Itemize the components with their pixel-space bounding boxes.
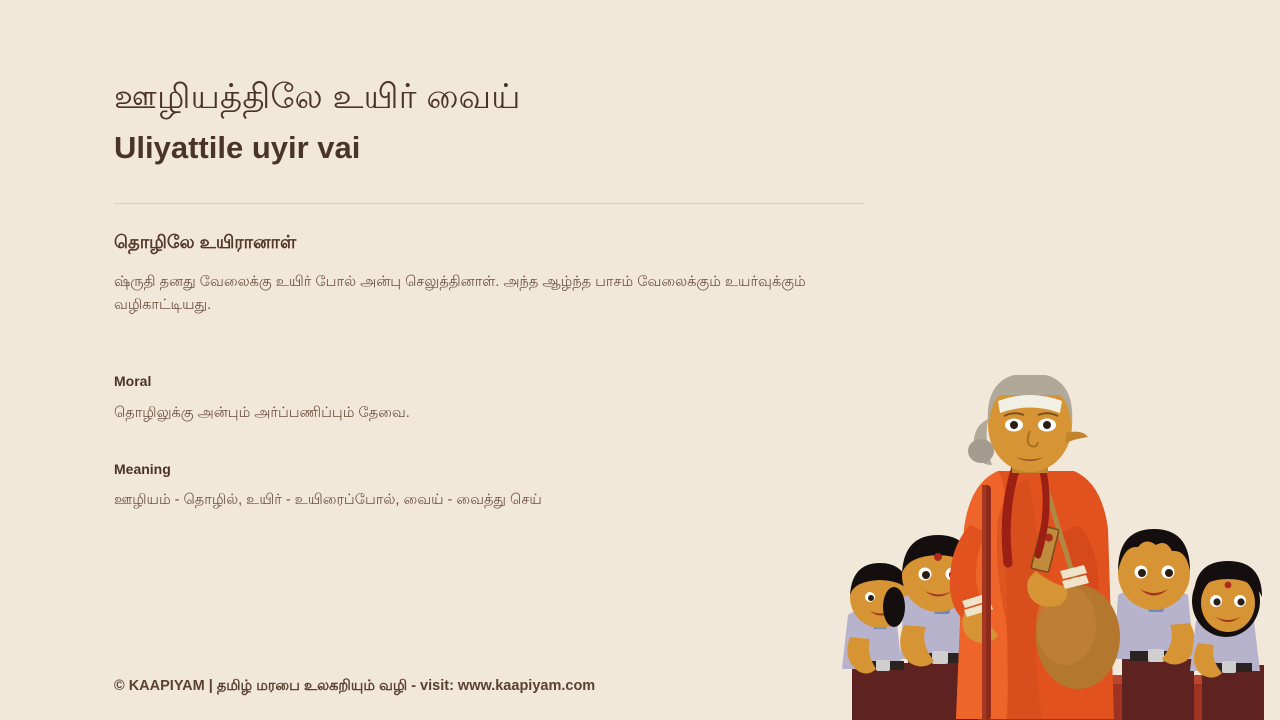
story-heading: தொழிலே உயிரானாள் [114, 230, 874, 255]
meaning-section: Meaning ஊழியம் - தொழில், உயிர் - உயிரைப்… [114, 460, 874, 513]
moral-section: Moral தொழிலுக்கு அன்பும் அர்ப்பணிப்பும் … [114, 372, 874, 425]
moral-label: Moral [114, 372, 874, 392]
elderly-woman-figure [950, 375, 1120, 720]
page-title-romanized: Uliyattile uyir vai [114, 128, 874, 168]
footer-attribution: © KAAPIYAM | தமிழ் மரபை உலகறியும் வழி - … [114, 678, 595, 696]
meaning-label: Meaning [114, 460, 874, 480]
moral-text: தொழிலுக்கு அன்பும் அர்ப்பணிப்பும் தேவை. [114, 402, 874, 425]
bindi [934, 553, 942, 561]
meaning-text: ஊழியம் - தொழில், உயிர் - உயிரைப்போல், வை… [114, 489, 874, 512]
page-title-tamil: ஊழியத்திலே உயிர் வைய் [114, 76, 874, 119]
header-divider [114, 203, 864, 204]
content-column: ஊழியத்திலே உயிர் வைய் Uliyattile uyir va… [114, 0, 874, 720]
child-boy-right [1114, 529, 1195, 720]
story-body-text: ஷ்ருதி தனது வேலைக்கு உயிர் போல் அன்பு செ… [114, 271, 859, 318]
hair-bun [968, 439, 994, 463]
bindi [1225, 582, 1232, 589]
elderly-woman-with-schoolchildren-illustration [830, 375, 1280, 720]
